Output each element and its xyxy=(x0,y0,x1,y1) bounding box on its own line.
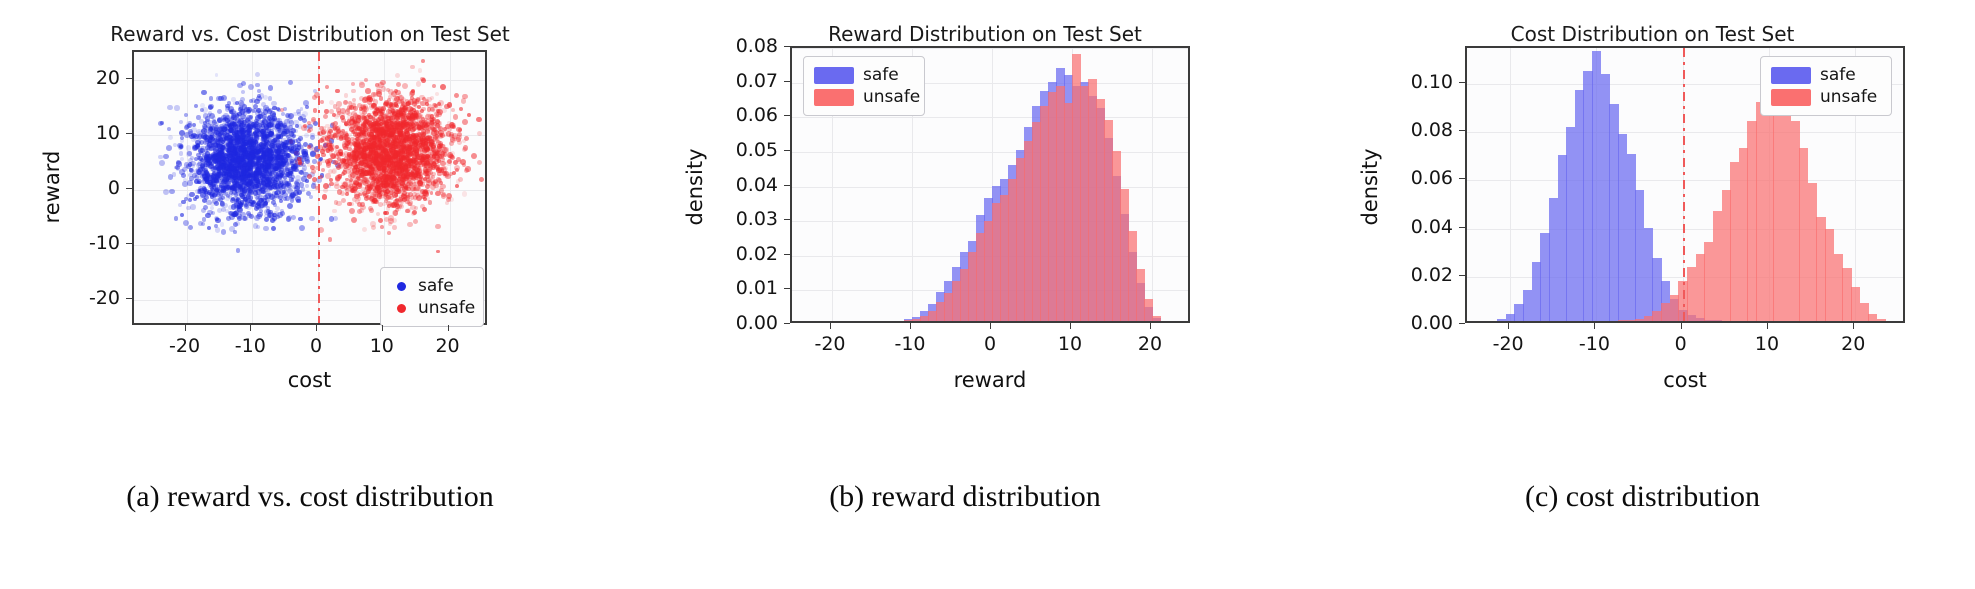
scatter-point xyxy=(205,119,210,124)
scatter-point xyxy=(430,191,434,195)
scatter-point xyxy=(456,127,462,133)
scatter-point xyxy=(421,59,425,63)
scatter-point xyxy=(413,219,418,224)
scatter-point xyxy=(184,132,190,138)
scatter-point xyxy=(362,227,367,232)
scatter-point xyxy=(217,208,222,213)
scatter-point xyxy=(373,109,377,113)
scatter-point xyxy=(160,121,164,125)
scatter-point xyxy=(477,160,482,165)
scatter-point xyxy=(357,196,361,200)
scatter-point xyxy=(187,151,191,155)
scatter-point xyxy=(329,216,334,221)
scatter-point xyxy=(214,178,219,183)
scatter-point xyxy=(237,216,242,221)
scatter-point xyxy=(460,159,466,165)
scatter-point xyxy=(247,190,251,194)
scatter-point xyxy=(194,157,198,161)
scatter-point xyxy=(343,181,348,186)
scatter-point xyxy=(270,218,276,224)
scatter-point xyxy=(476,117,481,122)
scatter-point xyxy=(334,200,339,205)
scatter-point xyxy=(220,222,225,227)
scatter-point xyxy=(220,201,224,205)
scatter-point xyxy=(479,177,484,182)
scatter-point xyxy=(332,209,336,213)
scatter-point xyxy=(444,171,449,176)
scatter-point xyxy=(239,109,245,115)
scatter-point xyxy=(233,133,237,137)
scatter-point xyxy=(196,115,201,120)
scatter-point xyxy=(436,112,441,117)
scatter-point xyxy=(351,217,357,223)
scatter-point xyxy=(237,83,243,89)
scatter-point xyxy=(437,178,442,183)
scatter-point xyxy=(416,81,421,86)
scatter-point xyxy=(231,166,235,170)
scatter-point xyxy=(271,160,275,164)
scatter-point xyxy=(323,183,329,189)
scatter-point xyxy=(425,129,430,134)
scatter-point xyxy=(201,164,205,168)
scatter-point xyxy=(442,166,447,171)
scatter-point xyxy=(325,85,329,89)
scatter-point xyxy=(441,192,446,197)
scatter-point xyxy=(285,196,290,201)
scatter-point xyxy=(255,83,259,87)
scatter-point xyxy=(332,168,337,173)
scatter-point xyxy=(271,226,276,231)
scatter-point xyxy=(420,204,425,209)
scatter-point xyxy=(221,95,227,101)
scatter-point xyxy=(207,226,211,230)
scatter-point xyxy=(263,107,267,111)
scatter-point xyxy=(373,198,377,202)
scatter-point xyxy=(202,186,206,190)
scatter-point xyxy=(235,221,240,226)
scatter-point xyxy=(287,118,293,124)
scatter-point xyxy=(339,164,344,169)
scatter-point xyxy=(180,213,184,217)
scatter-point xyxy=(240,97,245,102)
scatter-point xyxy=(345,163,350,168)
scatter-point xyxy=(231,197,235,201)
scatter-point xyxy=(206,144,211,149)
scatter-point xyxy=(283,143,288,148)
scatter-point xyxy=(253,140,259,146)
scatter-point xyxy=(219,137,223,141)
scatter-point xyxy=(158,155,163,160)
scatter-point xyxy=(209,96,213,100)
scatter-point xyxy=(272,106,277,111)
scatter-point xyxy=(212,192,218,198)
scatter-point xyxy=(335,89,339,93)
scatter-point xyxy=(309,216,315,222)
scatter-point xyxy=(298,136,303,141)
scatter-point xyxy=(280,209,284,213)
scatter-point xyxy=(181,200,185,204)
scatter-point xyxy=(454,93,459,98)
scatter-point xyxy=(380,225,384,229)
scatter-point xyxy=(437,131,442,136)
scatter-point xyxy=(253,223,258,228)
scatter-point xyxy=(457,132,462,137)
scatter-point xyxy=(216,172,220,176)
scatter-point xyxy=(206,157,211,162)
scatter-point xyxy=(359,82,364,87)
scatter-point xyxy=(412,126,417,131)
scatter-point xyxy=(197,134,202,139)
scatter-point xyxy=(179,151,184,156)
scatter-point xyxy=(426,97,432,103)
scatter-point xyxy=(166,145,172,151)
scatter-point xyxy=(273,186,277,190)
scatter-point xyxy=(179,120,183,124)
scatter-point xyxy=(417,180,422,185)
gridline-h xyxy=(134,245,485,246)
scatter-point xyxy=(352,186,357,191)
scatter-point xyxy=(351,82,355,86)
scatter-point xyxy=(406,100,411,105)
scatter-point xyxy=(191,133,196,138)
scatter-point xyxy=(236,248,241,253)
scatter-point xyxy=(179,130,185,136)
scatter-point xyxy=(351,89,356,94)
scatter-point xyxy=(455,184,459,188)
scatter-point xyxy=(449,172,453,176)
scatter-point xyxy=(321,153,326,158)
scatter-point xyxy=(299,225,305,231)
scatter-point xyxy=(285,133,289,137)
scatter-point xyxy=(195,189,200,194)
scatter-point xyxy=(338,150,342,154)
scatter-point xyxy=(201,129,205,133)
scatter-point xyxy=(341,198,346,203)
scatter-point xyxy=(399,198,405,204)
scatter-point xyxy=(229,151,235,157)
scatter-point xyxy=(294,129,298,133)
scatter-point xyxy=(432,84,436,88)
scatter-point xyxy=(266,148,270,152)
scatter-point xyxy=(186,145,191,150)
scatter-point xyxy=(247,107,252,112)
scatter-point xyxy=(370,221,375,226)
scatter-point xyxy=(452,136,457,141)
scatter-point xyxy=(255,72,260,77)
scatter-point xyxy=(336,101,341,106)
scatter-point xyxy=(221,229,227,235)
scatter-point xyxy=(440,184,445,189)
scatter-point xyxy=(421,78,426,83)
scatter-point xyxy=(199,194,204,199)
scatter-point xyxy=(259,120,265,126)
scatter-point xyxy=(200,158,206,164)
scatter-point xyxy=(467,113,471,117)
scatter-point xyxy=(277,120,282,125)
scatter-point xyxy=(288,80,293,85)
scatter-point xyxy=(412,98,418,104)
scatter-point xyxy=(254,176,258,180)
scatter-point xyxy=(425,184,430,189)
scatter-point xyxy=(213,143,218,148)
scatter-point xyxy=(241,90,245,94)
scatter-point xyxy=(364,196,369,201)
scatter-point xyxy=(344,93,348,97)
scatter-point xyxy=(259,209,263,213)
scatter-point xyxy=(448,197,454,203)
scatter-point xyxy=(301,176,307,182)
scatter-point xyxy=(215,73,219,77)
scatter-point xyxy=(313,108,318,113)
scatter-point xyxy=(217,109,223,115)
scatter-point xyxy=(275,127,281,133)
gridline-v xyxy=(187,52,188,323)
scatter-point xyxy=(211,211,216,216)
scatter-point xyxy=(184,125,189,130)
scatter-point xyxy=(462,119,468,125)
scatter-point xyxy=(233,176,237,180)
scatter-point xyxy=(243,216,248,221)
scatter-point xyxy=(307,174,312,179)
scatter-point xyxy=(392,225,397,230)
scatter-point xyxy=(205,213,211,219)
scatter-point xyxy=(301,125,307,131)
scatter-point xyxy=(202,124,207,129)
scatter-point xyxy=(445,124,451,130)
scatter-point xyxy=(261,102,266,107)
scatter-point xyxy=(247,156,252,161)
scatter-point xyxy=(214,122,218,126)
scatter-point xyxy=(429,131,434,136)
scatter-point xyxy=(263,226,269,232)
scatter-point xyxy=(273,137,278,142)
scatter-point xyxy=(167,127,171,131)
scatter-point xyxy=(268,96,272,100)
scatter-point xyxy=(256,214,262,220)
scatter-point xyxy=(345,188,350,193)
scatter-point xyxy=(307,121,311,125)
scatter-point xyxy=(350,116,354,120)
scatter-point xyxy=(176,160,181,165)
scatter-point xyxy=(378,218,383,223)
scatter-point xyxy=(381,106,385,110)
scatter-point xyxy=(262,133,266,137)
scatter-point xyxy=(274,177,279,182)
scatter-point xyxy=(437,172,441,176)
scatter-point xyxy=(486,148,487,153)
scatter-point xyxy=(341,172,345,176)
gridline-h xyxy=(134,80,485,81)
scatter-point xyxy=(440,84,446,90)
scatter-point xyxy=(418,68,422,72)
scatter-point xyxy=(465,166,471,172)
scatter-point xyxy=(163,189,169,195)
scatter-point xyxy=(202,168,207,173)
scatter-point xyxy=(172,172,176,176)
scatter-point xyxy=(395,73,400,78)
scatter-point xyxy=(287,215,293,221)
scatter-point xyxy=(215,227,220,232)
scatter-point xyxy=(459,107,464,112)
scatter-point xyxy=(208,127,213,132)
scatter-point xyxy=(446,160,452,166)
scatter-point xyxy=(248,84,254,90)
scatter-point xyxy=(410,90,416,96)
scatter-point xyxy=(210,202,214,206)
scatter-point xyxy=(215,218,220,223)
scatter-point xyxy=(349,170,354,175)
scatter-point xyxy=(289,139,293,143)
scatter-point xyxy=(192,123,196,127)
scatter-point xyxy=(347,202,352,207)
scatter-point xyxy=(201,222,205,226)
scatter-point xyxy=(322,194,328,200)
scatter-point xyxy=(309,195,313,199)
scatter-point xyxy=(435,92,439,96)
scatter-point xyxy=(376,212,380,216)
scatter-point xyxy=(477,131,482,136)
scatter-point xyxy=(217,117,222,122)
scatter-point xyxy=(321,168,325,172)
scatter-point xyxy=(174,105,179,110)
scatter-point xyxy=(412,210,417,215)
scatter-point xyxy=(279,167,285,173)
scatter-point xyxy=(163,154,168,159)
scatter-point xyxy=(228,135,232,139)
scatter-point xyxy=(436,250,440,254)
scatter-point xyxy=(188,225,193,230)
scatter-point xyxy=(256,96,261,101)
scatter-point xyxy=(462,191,468,197)
scatter-point xyxy=(307,145,311,149)
scatter-point xyxy=(302,118,307,123)
scatter-point xyxy=(194,104,198,108)
scatter-point xyxy=(256,108,261,113)
scatter-point xyxy=(183,220,189,226)
scatter-point xyxy=(188,198,192,202)
scatter-point xyxy=(247,174,252,179)
scatter-point xyxy=(305,105,309,109)
scatter-point xyxy=(305,184,309,188)
scatter-point xyxy=(428,200,433,205)
scatter-point xyxy=(395,181,401,187)
scatter-point xyxy=(364,78,368,82)
scatter-point xyxy=(402,83,408,89)
scatter-point xyxy=(186,206,191,211)
scatter-point xyxy=(238,135,243,140)
scatter-point xyxy=(298,217,303,222)
scatter-point xyxy=(234,202,240,208)
panel-a-scatter: Reward vs. Cost Distribution on Test Set… xyxy=(0,0,620,470)
scatter-point xyxy=(267,134,272,139)
scatter-point xyxy=(272,168,277,173)
scatter-point xyxy=(311,119,316,124)
scatter-point xyxy=(210,206,214,210)
scatter-point xyxy=(345,178,349,182)
scatter-point xyxy=(369,208,374,213)
scatter-point xyxy=(196,163,200,167)
scatter-point xyxy=(365,88,371,94)
scatter-point xyxy=(237,207,243,213)
scatter-point xyxy=(321,129,326,134)
scatter-point xyxy=(387,231,391,235)
panel-a-title: Reward vs. Cost Distribution on Test Set xyxy=(0,22,620,46)
scatter-point xyxy=(257,89,261,93)
scatter-point xyxy=(275,150,280,155)
scatter-point xyxy=(159,160,165,166)
scatter-point xyxy=(167,105,172,110)
scatter-point xyxy=(201,208,206,213)
scatter-point xyxy=(254,194,260,200)
scatter-point xyxy=(254,171,259,176)
scatter-point xyxy=(199,151,204,156)
scatter-point xyxy=(453,114,459,120)
scatter-point xyxy=(302,111,308,117)
scatter-point xyxy=(229,226,235,232)
scatter-point xyxy=(169,189,175,195)
scatter-point xyxy=(222,160,226,164)
scatter-point xyxy=(333,133,338,138)
scatter-point xyxy=(236,197,241,202)
scatter-point xyxy=(176,167,180,171)
scatter-point xyxy=(268,213,274,219)
scatter-point xyxy=(254,155,260,161)
scatter-point xyxy=(228,128,233,133)
scatter-point xyxy=(435,224,441,230)
scatter-point xyxy=(173,143,177,147)
scatter-point xyxy=(264,177,269,182)
scatter-point xyxy=(225,209,229,213)
scatter-point xyxy=(417,105,421,109)
scatter-point xyxy=(287,203,293,209)
scatter-point xyxy=(410,205,415,210)
scatter-point xyxy=(189,192,195,198)
scatter-point xyxy=(451,108,455,112)
scatter-point xyxy=(323,114,328,119)
scatter-point xyxy=(432,103,436,107)
scatter-point xyxy=(201,90,206,95)
scatter-point xyxy=(435,120,441,126)
scatter-point xyxy=(208,111,213,116)
scatter-point xyxy=(275,206,280,211)
scatter-point xyxy=(304,133,309,138)
scatter-point xyxy=(485,151,487,157)
scatter-point xyxy=(328,237,332,241)
scatter-point xyxy=(267,185,273,191)
scatter-point xyxy=(268,85,273,90)
scatter-point xyxy=(423,167,428,172)
scatter-point xyxy=(197,179,202,184)
scatter-point xyxy=(202,135,207,140)
scatter-point xyxy=(462,147,467,152)
scatter-point xyxy=(427,104,432,109)
scatter-point xyxy=(349,208,355,214)
scatter-point xyxy=(307,129,311,133)
scatter-point xyxy=(310,133,315,138)
scatter-point xyxy=(187,180,192,185)
figure-panels-container: Reward vs. Cost Distribution on Test Set… xyxy=(0,0,1975,589)
scatter-point xyxy=(190,204,195,209)
scatter-point xyxy=(431,147,436,152)
scatter-point xyxy=(168,135,173,140)
scatter-point xyxy=(378,82,384,88)
scatter-point xyxy=(256,131,261,136)
scatter-point xyxy=(436,167,440,171)
scatter-point xyxy=(363,104,369,110)
scatter-point xyxy=(174,216,179,221)
scatter-point xyxy=(297,142,302,147)
scatter-point xyxy=(402,186,408,192)
